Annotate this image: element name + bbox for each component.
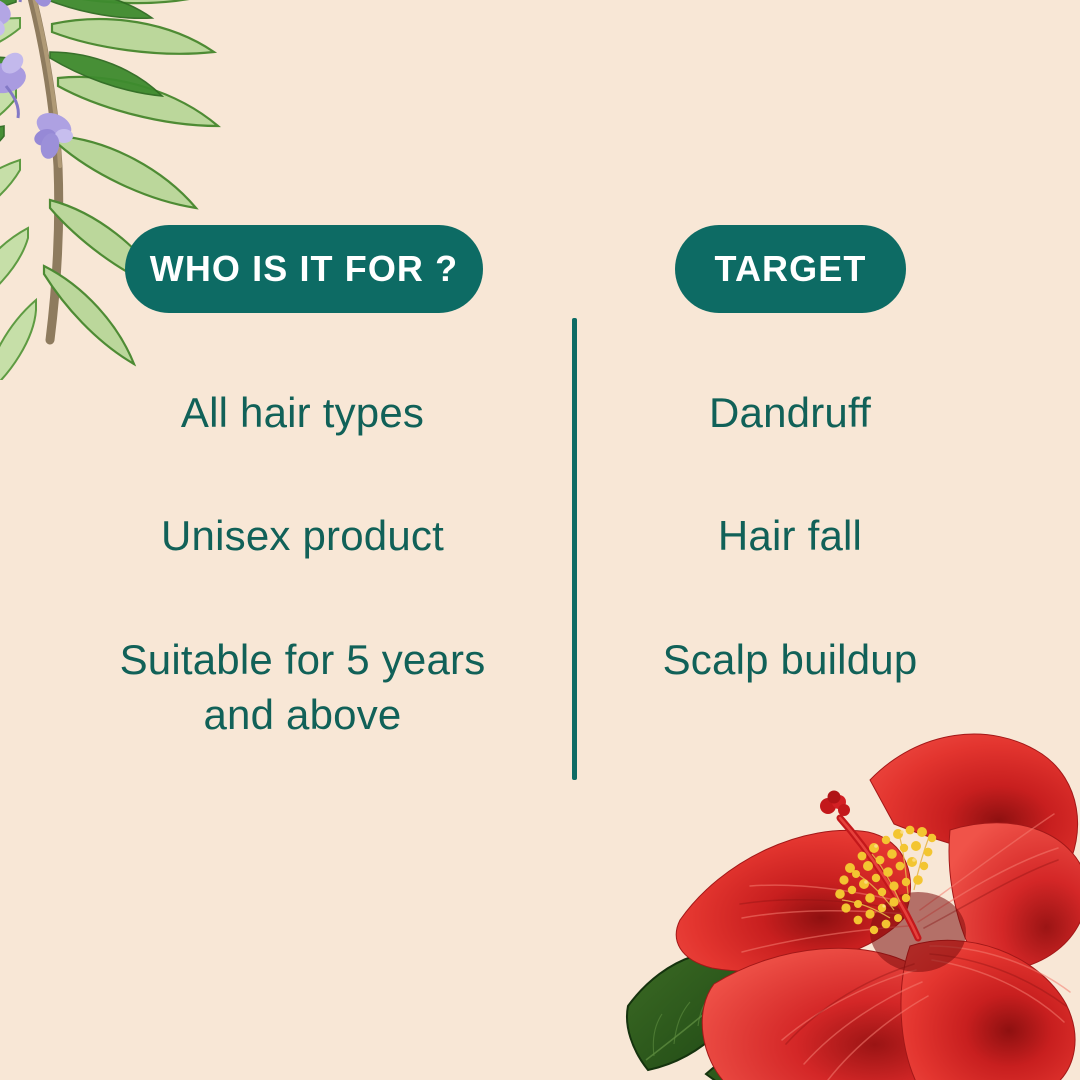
list-item: Dandruff — [625, 385, 955, 440]
poster-canvas: WHO IS IT FOR ? TARGET All hair types Un… — [0, 0, 1080, 1080]
who-is-it-for-list: All hair types Unisex product Suitable f… — [80, 385, 525, 811]
list-item: All hair types — [80, 385, 525, 440]
who-is-it-for-heading-pill: WHO IS IT FOR ? — [125, 225, 483, 313]
list-item: Unisex product — [80, 508, 525, 563]
list-item: Hair fall — [625, 508, 955, 563]
list-item: Scalp buildup — [625, 632, 955, 687]
content-columns: WHO IS IT FOR ? TARGET All hair types Un… — [0, 0, 1080, 1080]
column-divider — [572, 318, 577, 780]
target-list: Dandruff Hair fall Scalp buildup — [625, 385, 955, 755]
target-heading-label: TARGET — [715, 251, 867, 287]
who-is-it-for-heading-label: WHO IS IT FOR ? — [150, 251, 458, 287]
list-item: Suitable for 5 years and above — [80, 632, 525, 743]
target-heading-pill: TARGET — [675, 225, 906, 313]
